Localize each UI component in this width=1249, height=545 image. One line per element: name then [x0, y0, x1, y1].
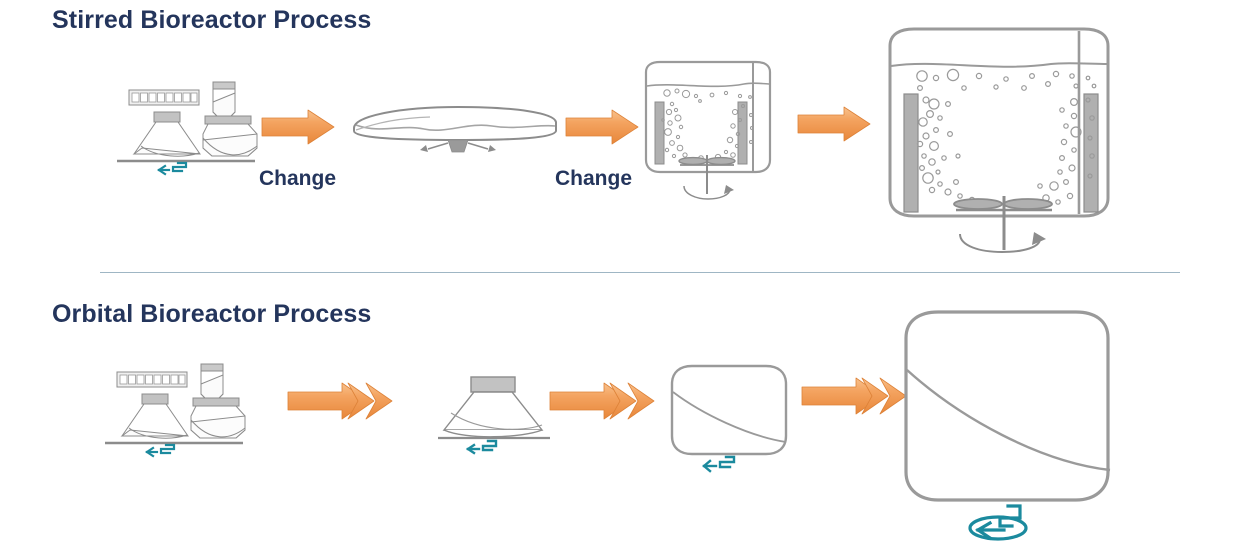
orbital-bioreactor-icon — [658, 362, 800, 474]
orbital-arrow-2 — [548, 380, 666, 422]
change-label-1: Change — [259, 167, 336, 191]
orbital-step-large-vessel — [890, 302, 1130, 544]
vial-rack-flask-shaker-icon — [100, 360, 250, 455]
stirred-arrow-1 — [260, 108, 338, 146]
triple-arrow-icon — [286, 380, 404, 422]
vial-rack-flask-shaker-icon — [112, 78, 262, 173]
single-arrow-icon — [796, 105, 874, 143]
stirred-step-small-tank — [634, 60, 790, 205]
stirred-tank-bioreactor-icon — [634, 60, 790, 205]
orbital-step-seed-train — [100, 360, 250, 455]
diagram-canvas: Stirred Bioreactor Process — [0, 0, 1249, 545]
erlenmeyer-flask-shaker-icon — [426, 368, 562, 460]
single-arrow-icon — [564, 108, 642, 146]
single-arrow-icon — [260, 108, 338, 146]
orbital-step-shake-flask — [426, 368, 562, 460]
stirred-process-title: Stirred Bioreactor Process — [52, 6, 371, 35]
section-divider — [100, 272, 1180, 273]
orbital-process-title: Orbital Bioreactor Process — [52, 300, 371, 329]
change-label-2: Change — [555, 167, 632, 191]
stirred-arrow-3 — [796, 105, 874, 143]
triple-arrow-icon — [548, 380, 666, 422]
stirred-tank-bioreactor-large-icon — [876, 26, 1128, 256]
orbital-bioreactor-large-icon — [890, 302, 1130, 544]
stirred-arrow-2 — [564, 108, 642, 146]
stirred-step-seed-train — [112, 78, 262, 173]
orbital-step-small-vessel — [658, 362, 800, 474]
rocking-bag-bioreactor-icon — [340, 100, 568, 162]
stirred-step-rocking-bag — [340, 100, 568, 162]
stirred-step-large-tank — [876, 26, 1128, 256]
orbital-arrow-1 — [286, 380, 404, 422]
